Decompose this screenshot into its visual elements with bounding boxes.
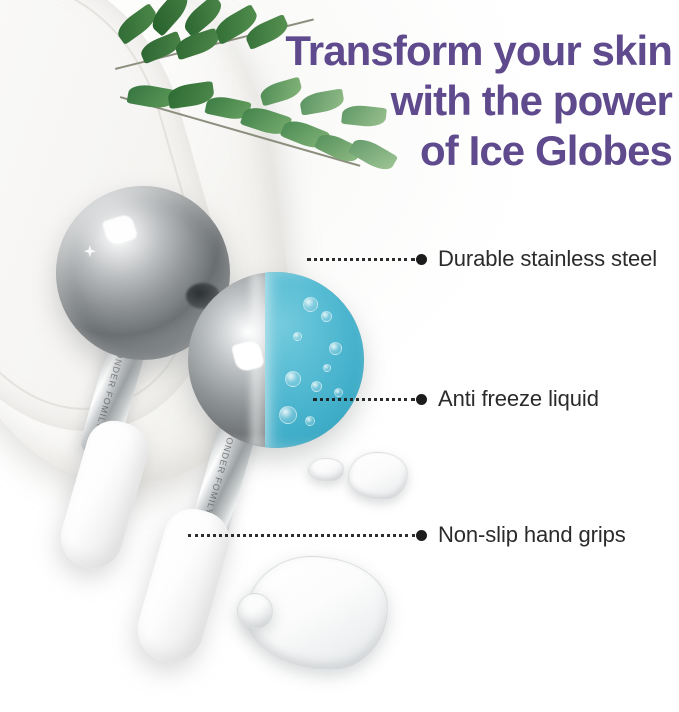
feature-label: Non-slip hand grips (438, 522, 626, 548)
leader-line (307, 258, 415, 261)
leader-line (313, 398, 415, 401)
globe-lower-right (188, 272, 364, 448)
headline-line-2: with the power (252, 76, 672, 126)
feature-callout-durable-stainless-steel: Durable stainless steel (307, 244, 657, 274)
globe-sparkle-icon (84, 245, 96, 257)
bubble (329, 342, 342, 355)
bubble (321, 311, 332, 322)
product-infographic: WONDER FOMILY WONDER FOMILY (0, 0, 679, 712)
bullet-dot-icon (416, 394, 427, 405)
headline-line-1: Transform your skin (252, 26, 672, 76)
feature-label: Durable stainless steel (438, 246, 657, 272)
water-droplet-medium (348, 452, 408, 500)
bubble (285, 371, 301, 387)
bubble (279, 406, 297, 424)
page-title: Transform your skin with the power of Ic… (252, 26, 672, 176)
feature-label: Anti freeze liquid (438, 386, 599, 412)
antifreeze-liquid-fill (265, 272, 364, 448)
leaf (173, 28, 221, 61)
bubble (305, 416, 315, 426)
bubble (323, 364, 331, 372)
bullet-dot-icon (416, 530, 427, 541)
headline-line-3: of Ice Globes (252, 126, 672, 176)
bubble (293, 332, 302, 341)
leader-line (188, 534, 415, 537)
bullet-dot-icon (416, 254, 427, 265)
bubble (303, 297, 318, 312)
water-droplet-small (308, 458, 344, 482)
feature-callout-anti-freeze-liquid: Anti freeze liquid (313, 384, 599, 414)
feature-callout-non-slip-hand-grips: Non-slip hand grips (188, 520, 626, 550)
